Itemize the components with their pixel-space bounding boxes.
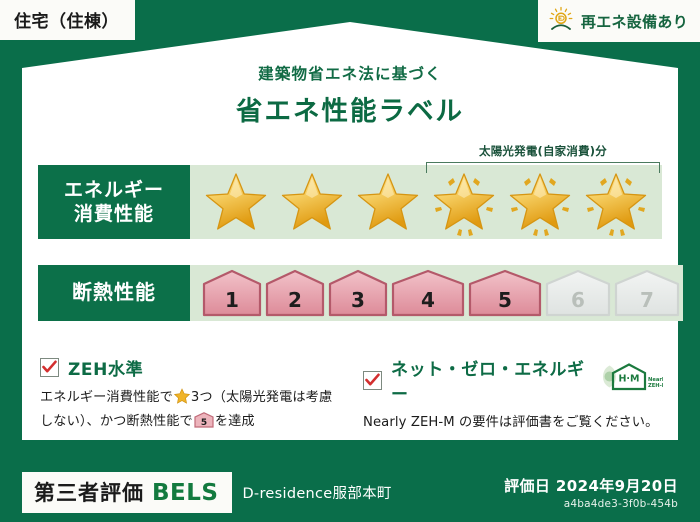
inline-house-icon: 5 — [194, 412, 214, 435]
zeh-checkbox — [40, 358, 59, 377]
bels-jp-label: 第三者評価 — [34, 477, 144, 507]
energy-star-2 — [274, 165, 350, 239]
insulation-level-number: 5 — [498, 290, 512, 313]
bracket-line — [426, 162, 660, 173]
evaluation-meta: 評価日 2024年9月20日 a4ba4de3-3f0b-454b — [504, 475, 678, 510]
insulation-level-number: 1 — [225, 290, 239, 313]
insulation-level-number: 2 — [288, 290, 302, 313]
insulation-level-number: 3 — [351, 290, 365, 313]
energy-star-5 — [502, 165, 578, 239]
net-zero-title: ネット・ゼロ・エネルギー — [391, 355, 587, 405]
zeh-m-logo-icon: H·M Nearly ZEH-M — [599, 362, 663, 398]
insulation-level-3: 3 — [328, 269, 388, 317]
net-zero-energy-section: ネット・ゼロ・エネルギー H·M Nearly ZEH-M Nearly ZEH… — [363, 355, 663, 433]
renewable-energy-label: 再エネ設備あり — [581, 11, 688, 32]
zeh-description: エネルギー消費性能で3つ（太陽光発電は考慮しない）、かつ断熱性能で5を達成 — [40, 387, 340, 436]
solar-bracket-label: 太陽光発電(自家消費)分 — [424, 143, 662, 159]
building-name: D-residence服部本町 — [242, 482, 391, 503]
energy-performance-label: エネルギー 消費性能 — [38, 165, 190, 239]
svg-text:5: 5 — [201, 418, 207, 428]
insulation-level-number: 7 — [640, 290, 654, 313]
zeh-header: ZEH水準 — [40, 355, 340, 380]
solar-bracket-annotation: 太陽光発電(自家消費)分 — [424, 145, 662, 173]
inline-star-icon — [174, 388, 190, 411]
energy-performance-row: エネルギー 消費性能 — [38, 165, 662, 239]
renewable-energy-badge: 再エネ設備あり — [538, 0, 700, 42]
energy-star-3 — [350, 165, 426, 239]
insulation-level-5: 5 — [468, 269, 542, 317]
net-zero-description: Nearly ZEH-M の要件は評価書をご覧ください。 — [363, 412, 663, 433]
net-zero-header: ネット・ゼロ・エネルギー H·M Nearly ZEH-M — [363, 355, 663, 405]
evaluation-id: a4ba4de3-3f0b-454b — [504, 498, 678, 510]
svg-text:H·M: H·M — [618, 374, 639, 385]
insulation-level-1: 1 — [202, 269, 262, 317]
housing-type-label: 住宅（住棟） — [14, 12, 119, 32]
title-main: 省エネ性能ラベル — [0, 89, 700, 128]
bels-badge: 第三者評価 BELS — [22, 472, 232, 513]
insulation-performance-label: 断熱性能 — [38, 265, 190, 321]
energy-star-1 — [198, 165, 274, 239]
zeh-standard-section: ZEH水準 エネルギー消費性能で3つ（太陽光発電は考慮しない）、かつ断熱性能で5… — [40, 355, 340, 436]
insulation-levels-container: 1234567 — [190, 265, 683, 321]
page-title: 建築物省エネ法に基づく 省エネ性能ラベル — [0, 62, 700, 128]
insulation-level-7: 7 — [614, 269, 680, 317]
title-subtitle: 建築物省エネ法に基づく — [0, 62, 700, 84]
insulation-level-6: 6 — [545, 269, 611, 317]
energy-star-4 — [426, 165, 502, 239]
net-zero-checkbox — [363, 371, 382, 390]
footer-bar: 第三者評価 BELS D-residence服部本町 評価日 2024年9月20… — [0, 462, 700, 522]
housing-type-tag: 住宅（住棟） — [0, 0, 135, 40]
sun-icon — [548, 6, 574, 36]
evaluation-date: 評価日 2024年9月20日 — [504, 475, 678, 496]
energy-stars-container — [190, 165, 662, 239]
insulation-level-2: 2 — [265, 269, 325, 317]
bels-en-label: BELS — [152, 480, 218, 506]
energy-star-6 — [578, 165, 654, 239]
svg-text:ZEH-M: ZEH-M — [648, 383, 663, 389]
insulation-level-number: 4 — [421, 290, 435, 313]
insulation-level-4: 4 — [391, 269, 465, 317]
insulation-performance-row: 断熱性能 1234567 — [38, 265, 662, 321]
zeh-title: ZEH水準 — [68, 355, 143, 380]
insulation-level-number: 6 — [571, 290, 585, 313]
